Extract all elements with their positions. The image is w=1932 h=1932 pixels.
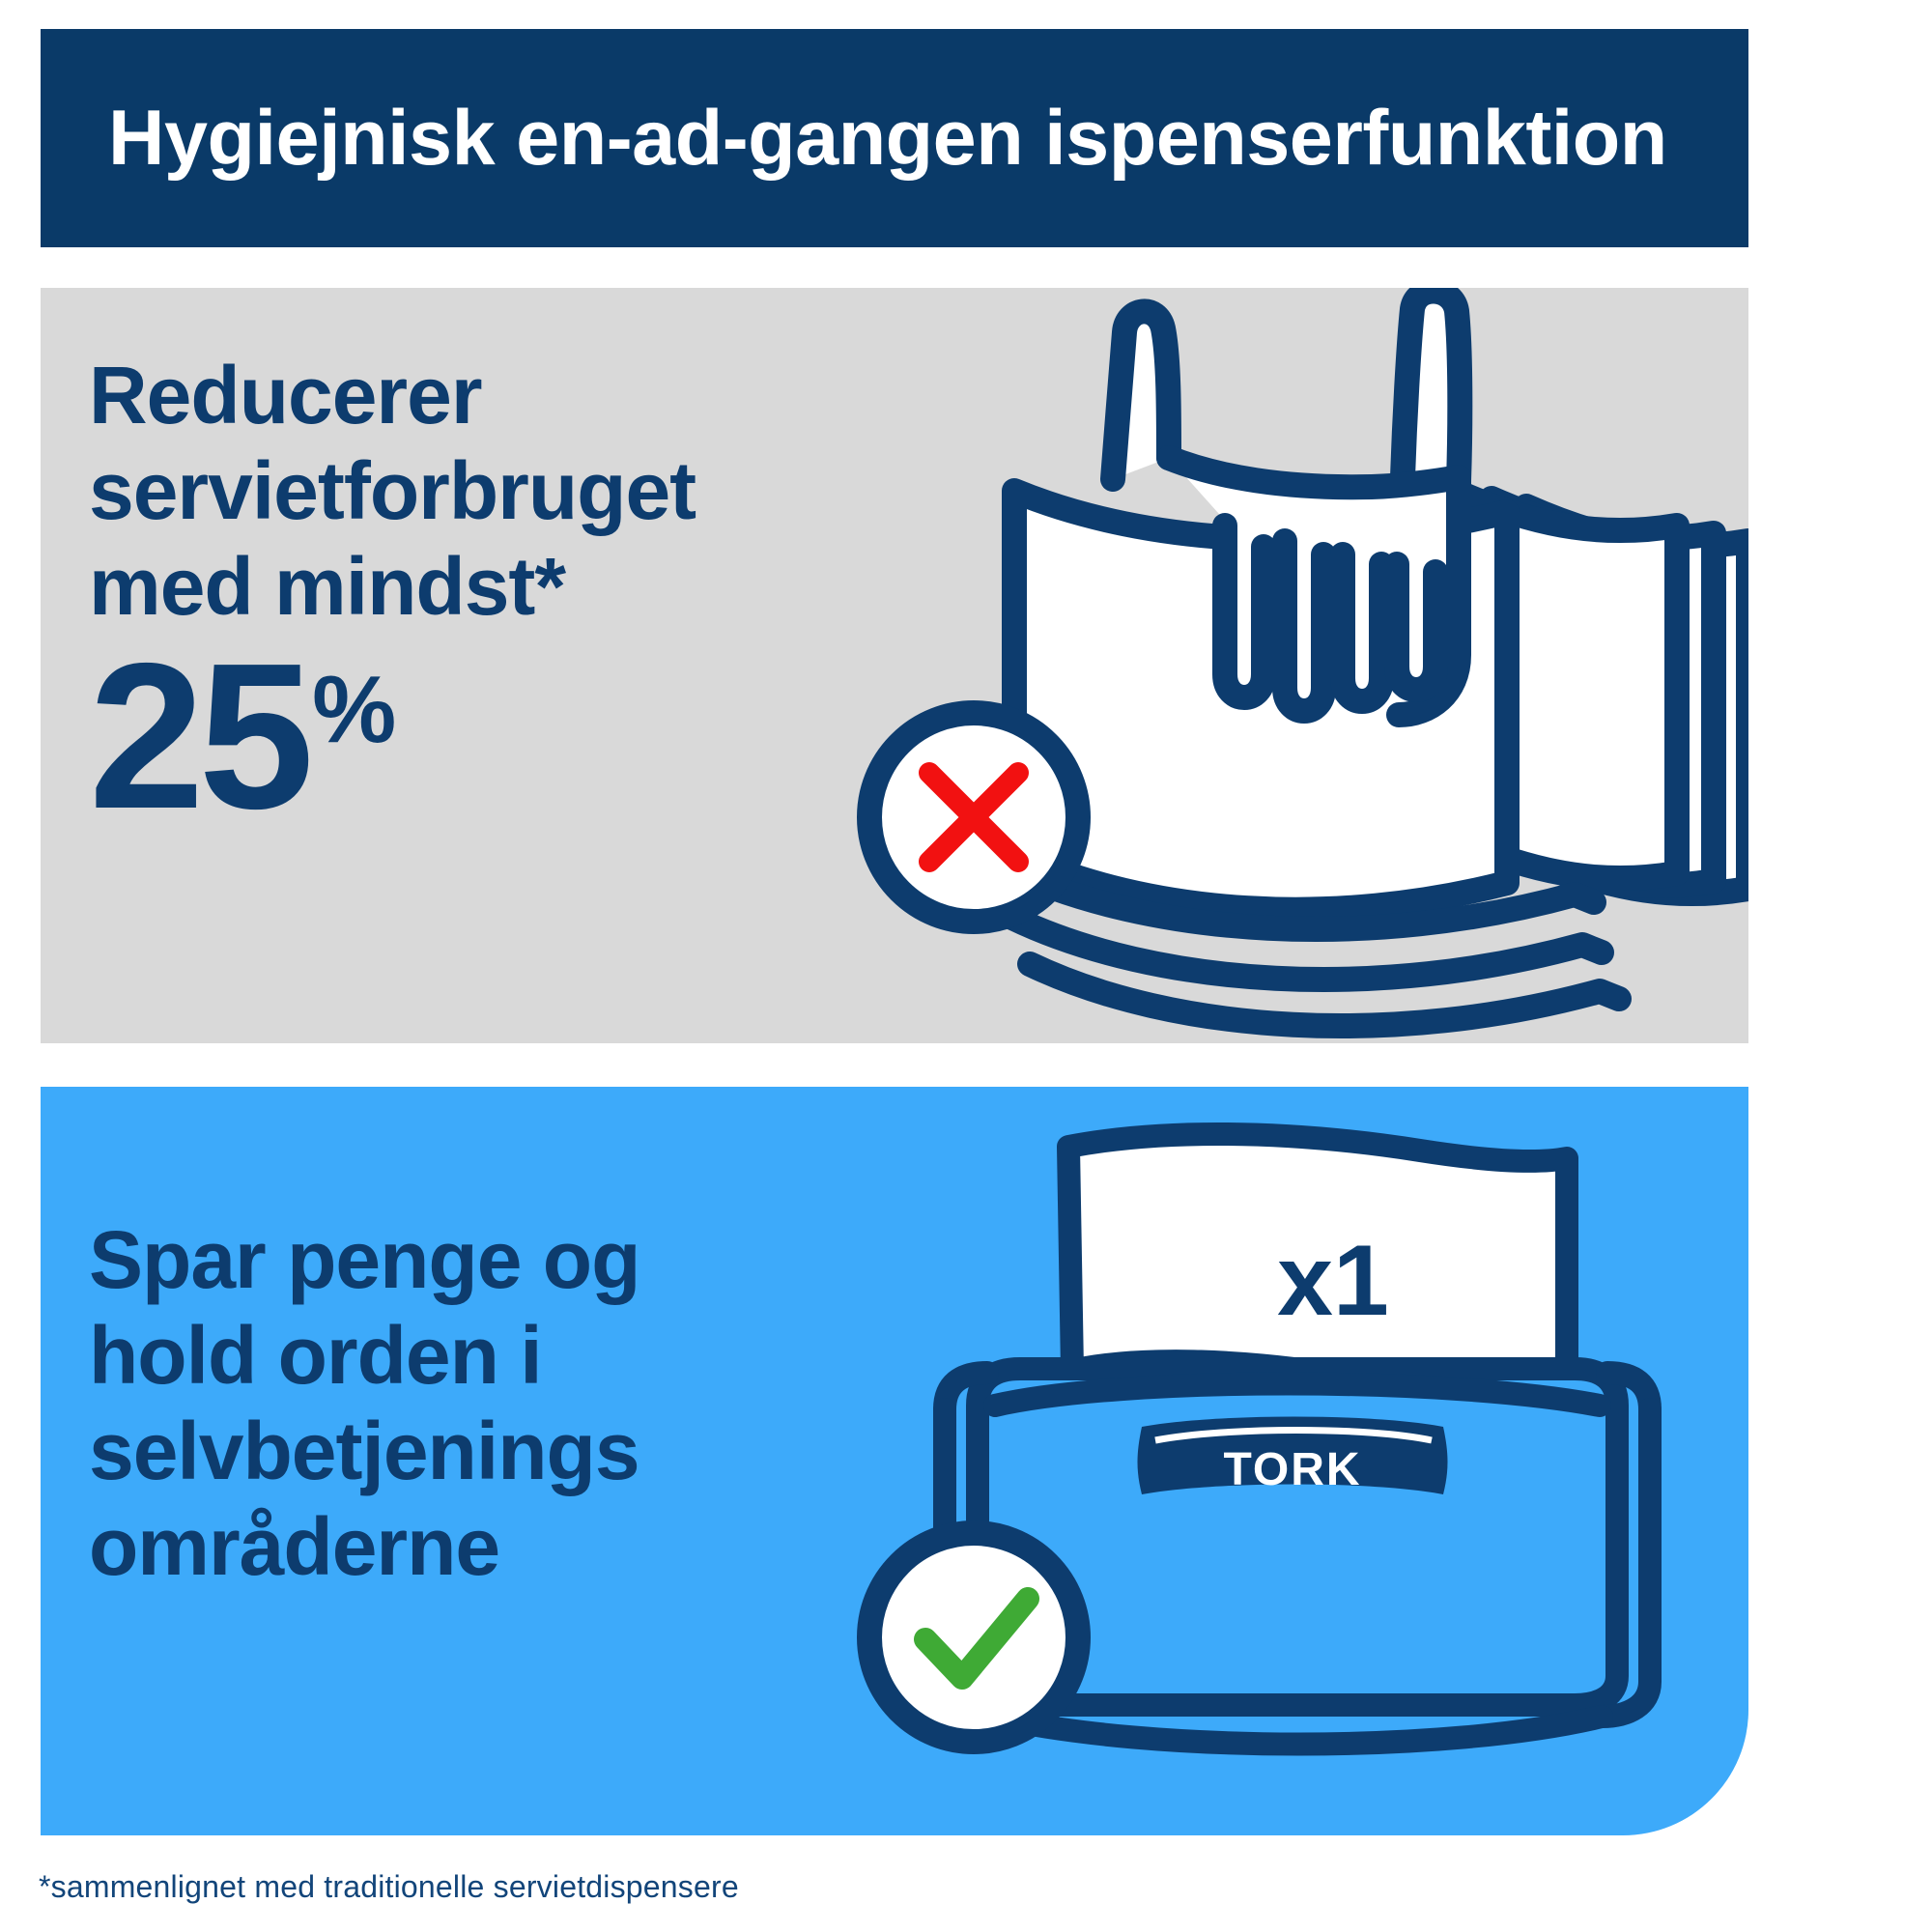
blue-heading-line-4: områderne	[89, 1499, 891, 1595]
infographic-canvas: Hygiejnisk en-ad-gangen ispenserfunktion…	[0, 0, 1932, 1932]
tork-logo: TORK	[1138, 1417, 1448, 1496]
blue-heading-line-1: Spar penge og	[89, 1212, 891, 1308]
gray-panel-text-block: Reducerer servietforbruget med mindst* 2…	[89, 348, 939, 832]
panel-save-money: Spar penge og hold orden i selvbetjening…	[41, 1087, 1748, 1835]
cross-badge	[869, 713, 1078, 922]
blue-heading-line-2: hold orden i	[89, 1308, 891, 1404]
page-title: Hygiejnisk en-ad-gangen ispenserfunktion	[108, 94, 1667, 184]
gray-heading-line-1: Reducerer	[89, 348, 939, 443]
footnote-text: *sammenlignet med traditionelle servietd…	[39, 1869, 739, 1905]
stat-unit: %	[312, 662, 396, 756]
tork-wordmark: TORK	[1223, 1444, 1361, 1495]
panel-reduce-usage: Reducerer servietforbruget med mindst* 2…	[41, 288, 1748, 1043]
gray-heading-line-2: servietforbruget	[89, 443, 939, 539]
header-banner: Hygiejnisk en-ad-gangen ispenserfunktion	[41, 29, 1748, 247]
stat-block: 25 %	[89, 640, 939, 832]
napkin-count-label: x1	[1277, 1225, 1389, 1337]
stat-value: 25	[89, 640, 308, 832]
blue-panel-text-block: Spar penge og hold orden i selvbetjening…	[89, 1212, 891, 1595]
check-badge	[869, 1533, 1078, 1742]
hand-napkins-illustration	[831, 288, 1748, 1043]
blue-heading-line-3: selvbetjenings	[89, 1404, 891, 1499]
dispenser-illustration: x1	[831, 1087, 1748, 1835]
single-napkin: x1	[1068, 1134, 1567, 1382]
